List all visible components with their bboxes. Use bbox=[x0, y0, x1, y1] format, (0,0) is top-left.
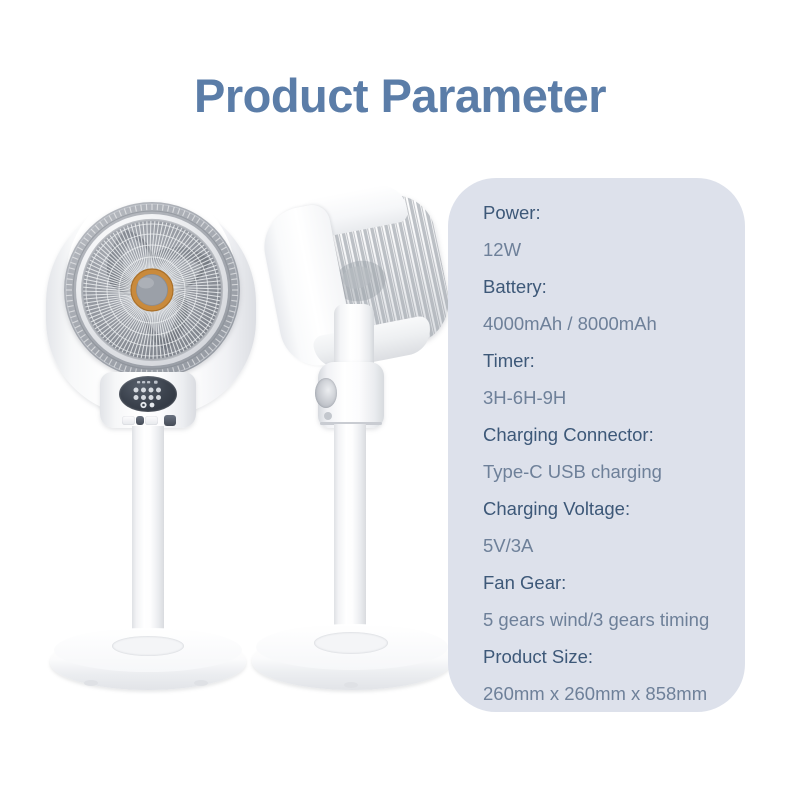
control-divider bbox=[136, 416, 144, 425]
control-rocker-left[interactable] bbox=[122, 416, 135, 425]
control-panel[interactable] bbox=[100, 372, 196, 428]
spec-label-12: Product Size: bbox=[483, 638, 745, 675]
spec-value-3: 4000mAh / 8000mAh bbox=[483, 305, 745, 342]
control-touch-pad[interactable] bbox=[119, 376, 177, 412]
spec-label-0: Power: bbox=[483, 194, 745, 231]
fan-grille-blades bbox=[76, 214, 228, 366]
fan-stand-pole bbox=[132, 426, 164, 658]
spec-label-2: Battery: bbox=[483, 268, 745, 305]
fan-base-foot-right bbox=[194, 680, 208, 686]
fan-head-front bbox=[64, 202, 240, 378]
spec-label-8: Charging Voltage: bbox=[483, 490, 745, 527]
spec-value-13: 260mm x 260mm x 858mm bbox=[483, 675, 745, 712]
fan-base-hub bbox=[112, 636, 184, 656]
spec-value-5: 3H-6H-9H bbox=[483, 379, 745, 416]
specification-list: Power:12WBattery:4000mAh / 8000mAhTimer:… bbox=[483, 194, 745, 712]
spec-value-7: Type-C USB charging bbox=[483, 453, 745, 490]
fan-grille bbox=[76, 214, 228, 366]
spec-value-11: 5 gears wind/3 gears timing bbox=[483, 601, 745, 638]
spec-label-10: Fan Gear: bbox=[483, 564, 745, 601]
fan-hinge-pivot bbox=[315, 378, 337, 408]
page-title: Product Parameter bbox=[0, 68, 800, 123]
spec-value-9: 5V/3A bbox=[483, 527, 745, 564]
fan-hinge-screw bbox=[324, 412, 332, 420]
spec-label-6: Charging Connector: bbox=[483, 416, 745, 453]
fan-hinge-joint[interactable] bbox=[318, 362, 384, 428]
fan-base-foot-left bbox=[84, 680, 98, 686]
spec-value-1: 12W bbox=[483, 231, 745, 268]
control-rocker-right[interactable] bbox=[145, 416, 158, 425]
fan-base-foot-center bbox=[344, 682, 358, 688]
fan-base-hub-tilted bbox=[314, 632, 388, 654]
control-port bbox=[164, 415, 176, 426]
fan-stand-pole-tilted bbox=[334, 424, 366, 658]
product-image-front-fan bbox=[38, 196, 268, 696]
specification-panel: Power:12WBattery:4000mAh / 8000mAhTimer:… bbox=[448, 178, 745, 712]
spec-label-4: Timer: bbox=[483, 342, 745, 379]
control-buttons[interactable] bbox=[119, 376, 177, 412]
